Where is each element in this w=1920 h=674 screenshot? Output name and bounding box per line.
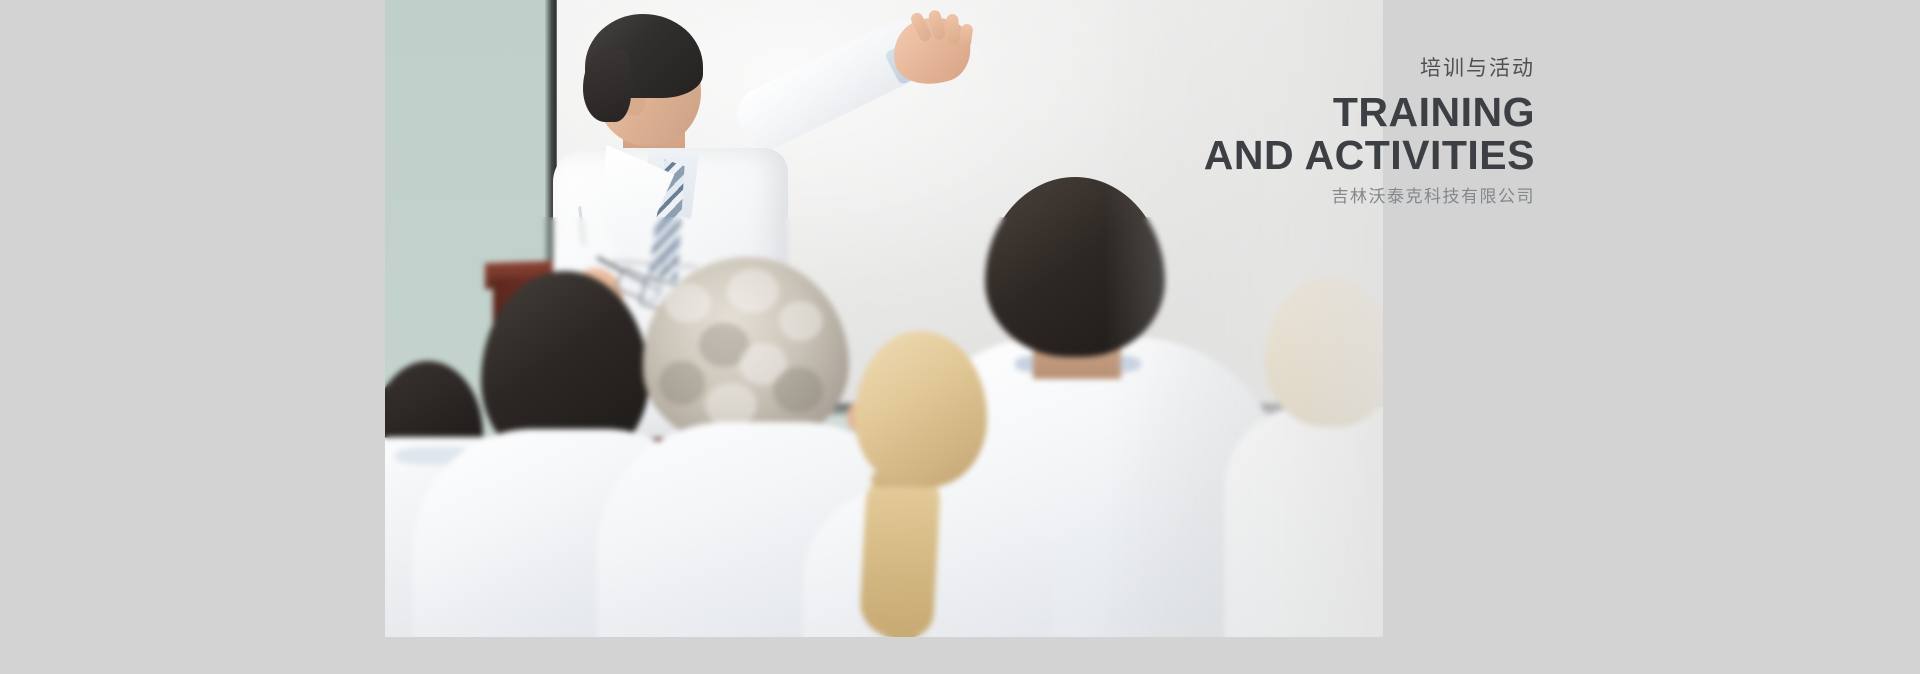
hair-curl [705,383,757,427]
training-banner: 培训与活动 TRAINING AND ACTIVITIES 吉林沃泰克科技有限公… [0,0,1920,674]
banner-text-block: 培训与活动 TRAINING AND ACTIVITIES 吉林沃泰克科技有限公… [1204,58,1535,205]
hair-curl-shadow [773,367,823,413]
hair-curl [727,269,779,313]
banner-company-name: 吉林沃泰克科技有限公司 [1204,188,1535,205]
speaker-finger [946,14,960,45]
audience-member-far-right-body [1225,407,1383,637]
banner-english-title-line2: AND ACTIVITIES [1204,134,1535,177]
hair-curl-shadow [659,361,705,405]
banner-english-title-line1: TRAINING [1204,91,1535,134]
hair-curl [665,283,711,323]
audience-member-blonde-ponytail [859,467,942,637]
hair-curl [779,301,823,341]
speaker-hair-side [583,50,631,122]
banner-chinese-title: 培训与活动 [1204,58,1535,79]
